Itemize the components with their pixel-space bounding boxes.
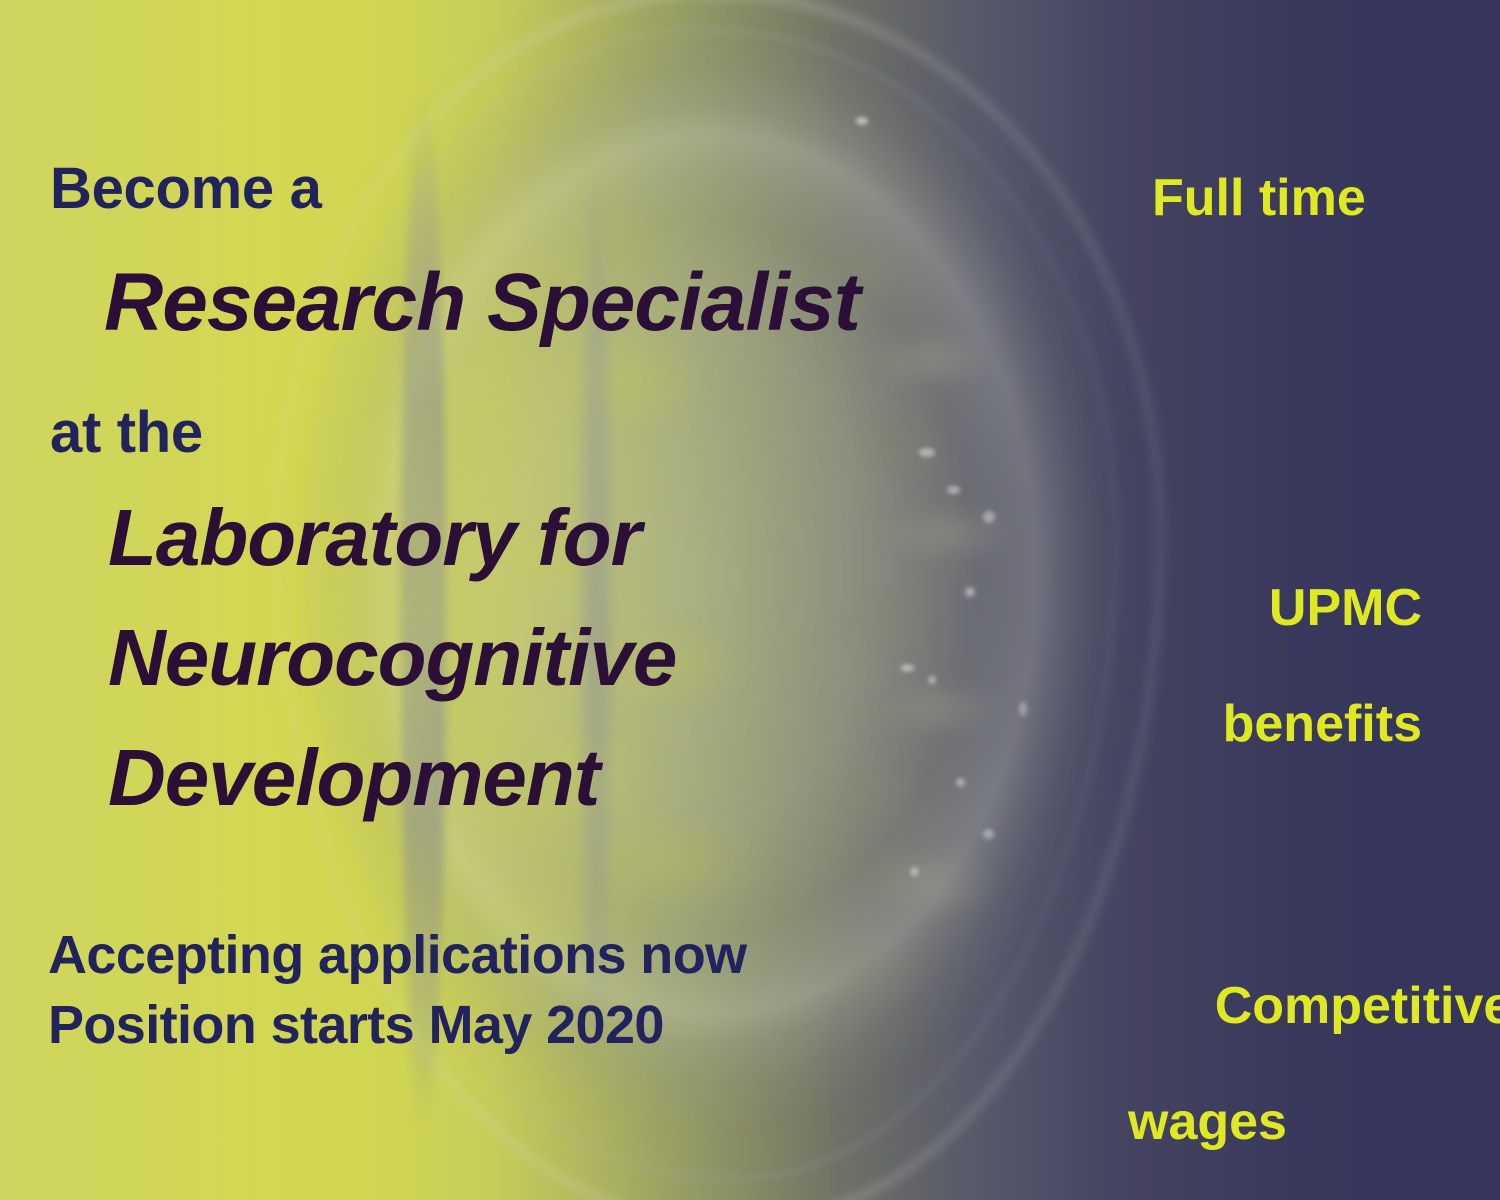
perk-wages-line-2: wages	[1128, 1096, 1500, 1148]
position-start-date-text: Position starts May 2020	[48, 998, 664, 1052]
perk-wages: Competitive wages	[1128, 928, 1500, 1200]
job-advertisement-poster: Become a Research Specialist at the Labo…	[0, 0, 1500, 1200]
text-layer: Become a Research Specialist at the Labo…	[0, 0, 1500, 1200]
perk-benefits-line-1: UPMC	[1269, 579, 1422, 637]
lab-name-line-2: Neurocognitive	[108, 618, 676, 698]
perk-benefits-line-2: benefits	[1182, 698, 1422, 750]
headline-connector: at the	[50, 404, 203, 462]
applications-status-text: Accepting applications now	[48, 928, 746, 982]
headline-lead-in: Become a	[50, 160, 322, 218]
perk-wages-line-1: Competitive	[1215, 977, 1500, 1035]
perk-employment-type: Full time	[1152, 172, 1366, 224]
page-title-role: Research Specialist	[104, 262, 860, 344]
lab-name-line-1: Laboratory for	[108, 498, 641, 578]
lab-name-line-3: Development	[108, 738, 599, 818]
perk-benefits: UPMC benefits	[1182, 530, 1422, 854]
